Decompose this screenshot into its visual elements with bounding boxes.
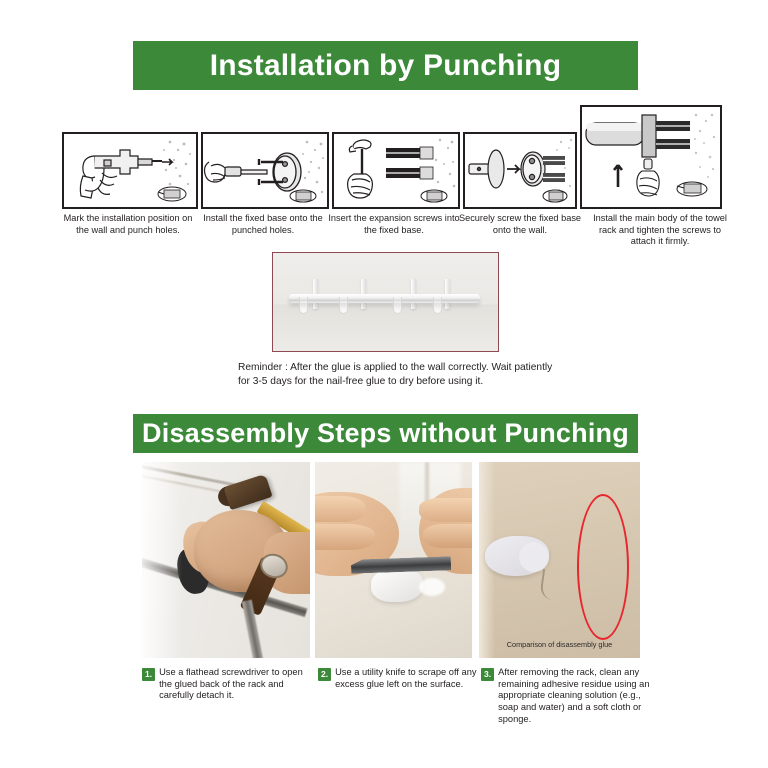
installation-banner-label: Installation by Punching	[210, 49, 562, 83]
rack-hook	[339, 297, 348, 314]
utility-knife-scrape-glue-photo	[315, 462, 472, 658]
glue-residue-patch	[519, 542, 549, 572]
step-4-illustration	[463, 132, 577, 209]
mount-towel-rack-body-icon	[582, 107, 720, 207]
hand-hammer-expansion-screws-icon	[334, 134, 458, 207]
disassembly-step-1: 1. Use a flathead screwdriver to open th…	[142, 667, 314, 702]
step-3-caption: Insert the expansion screws into the fix…	[327, 213, 461, 236]
step-2-caption: Install the fixed base onto the punched …	[196, 213, 330, 236]
step-number-badge-3: 3.	[481, 668, 494, 681]
right-finger	[423, 524, 472, 548]
disassembly-step-3: 3. After removing the rack, clean any re…	[481, 667, 661, 726]
step-number-badge-2: 2.	[318, 668, 331, 681]
step-2-illustration	[201, 132, 329, 209]
photo3-caption: Comparison of disassembly glue	[479, 640, 640, 649]
hand-screwdriver-fixed-base-icon	[203, 134, 327, 207]
screw-fixed-base-wall-icon	[465, 134, 575, 207]
photo1-highlight	[142, 462, 182, 658]
right-finger	[419, 498, 472, 522]
disassembly-step-3-caption: After removing the rack, clean any remai…	[498, 667, 661, 726]
rack-hook	[433, 297, 442, 314]
left-finger	[315, 496, 365, 522]
rack-hook	[393, 297, 402, 314]
towel-rack-mounted-photo	[272, 252, 499, 352]
step-1-caption: Mark the installation position on the wa…	[58, 213, 198, 236]
disassembly-step-2-caption: Use a utility knife to scrape off any ex…	[335, 667, 478, 690]
glue-smear	[419, 578, 445, 596]
left-finger	[315, 524, 375, 550]
hammer-pry-rack-photo	[142, 462, 310, 658]
hand-drill-wall-icon	[64, 134, 196, 207]
installation-steps-illustrations	[0, 105, 768, 210]
step-5-illustration	[580, 105, 722, 209]
installation-banner: Installation by Punching	[133, 41, 638, 90]
glue-residue	[371, 568, 423, 602]
disassembly-step-2: 2. Use a utility knife to scrape off any…	[318, 667, 478, 690]
disassembly-banner: Disassembly Steps without Punching	[133, 414, 638, 453]
disassembly-photos: Comparison of disassembly glue	[0, 462, 768, 658]
glue-residue-comparison-photo: Comparison of disassembly glue	[479, 462, 640, 658]
instruction-sheet: Installation by Punching	[0, 0, 768, 768]
step-3-illustration	[332, 132, 460, 209]
step-4-caption: Securely screw the fixed base onto the w…	[455, 213, 585, 236]
disassembly-step-1-caption: Use a flathead screwdriver to open the g…	[159, 667, 314, 702]
step-5-caption: Install the main body of the towel rack …	[586, 213, 734, 248]
reminder-text: Reminder : After the glue is applied to …	[238, 361, 558, 389]
towel-rack-bar	[289, 294, 480, 303]
step-1-illustration	[62, 132, 198, 209]
red-highlight-oval	[577, 494, 629, 640]
disassembly-banner-label: Disassembly Steps without Punching	[142, 418, 629, 449]
step-number-badge-1: 1.	[142, 668, 155, 681]
rack-hook	[299, 297, 308, 314]
